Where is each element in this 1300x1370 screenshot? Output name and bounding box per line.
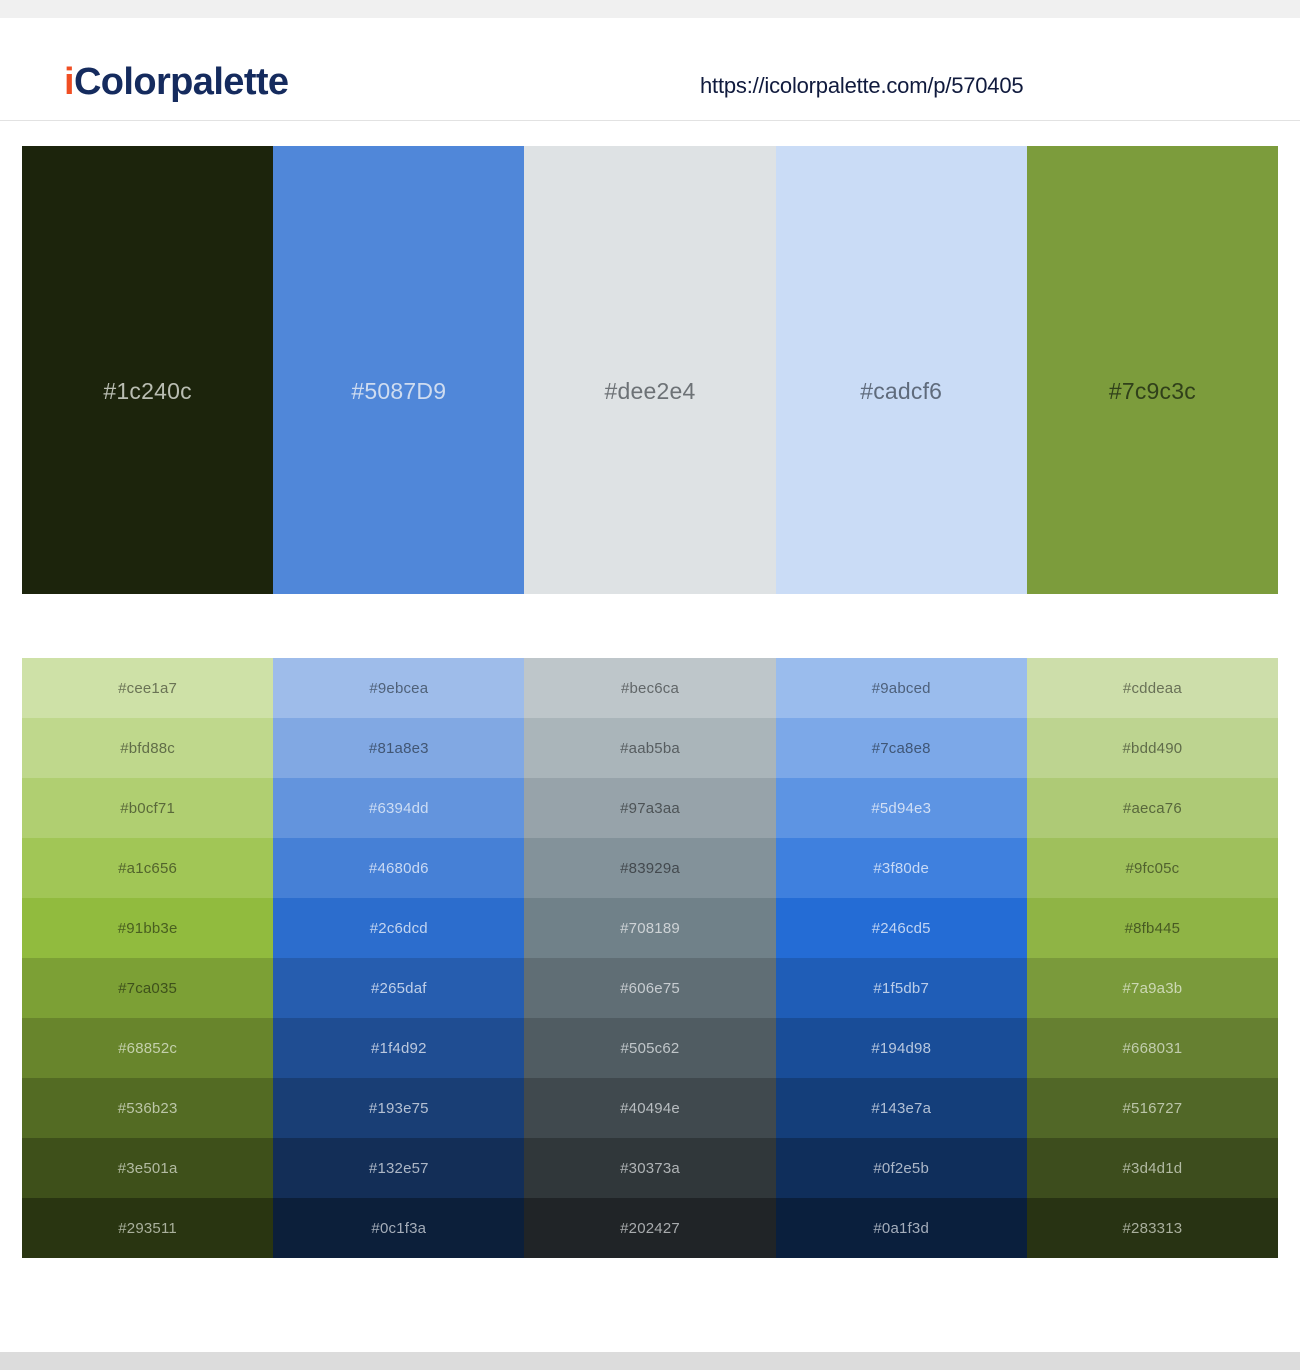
shade-cell[interactable]: #606e75 (524, 958, 775, 1018)
shade-cell[interactable]: #2c6dcd (273, 898, 524, 958)
shade-row: #293511#0c1f3a#202427#0a1f3d#283313 (22, 1198, 1278, 1258)
main-swatch-row: #1c240c#5087D9#dee2e4#cadcf6#7c9c3c (22, 146, 1278, 594)
shade-row: #cee1a7#9ebcea#bec6ca#9abced#cddeaa (22, 658, 1278, 718)
shade-cell[interactable]: #536b23 (22, 1078, 273, 1138)
shade-grid: #cee1a7#9ebcea#bec6ca#9abced#cddeaa#bfd8… (22, 658, 1278, 1258)
main-swatch[interactable]: #7c9c3c (1027, 146, 1278, 594)
top-strip (0, 0, 1300, 18)
shade-cell[interactable]: #0f2e5b (776, 1138, 1027, 1198)
shade-cell[interactable]: #7a9a3b (1027, 958, 1278, 1018)
site-header: iColorpalette https://icolorpalette.com/… (0, 18, 1300, 121)
logo-wordmark: Colorpalette (74, 61, 289, 103)
main-swatch-label: #7c9c3c (1109, 378, 1196, 405)
main-swatch-label: #dee2e4 (605, 378, 696, 405)
shade-cell[interactable]: #aeca76 (1027, 778, 1278, 838)
page-root: iColorpalette https://icolorpalette.com/… (0, 0, 1300, 1370)
logo-accent-letter: i (64, 61, 74, 103)
shade-cell[interactable]: #83929a (524, 838, 775, 898)
shade-cell[interactable]: #97a3aa (524, 778, 775, 838)
shade-cell[interactable]: #668031 (1027, 1018, 1278, 1078)
shade-cell[interactable]: #4680d6 (273, 838, 524, 898)
shade-row: #68852c#1f4d92#505c62#194d98#668031 (22, 1018, 1278, 1078)
shade-cell[interactable]: #6394dd (273, 778, 524, 838)
shade-cell[interactable]: #193e75 (273, 1078, 524, 1138)
shade-cell[interactable]: #a1c656 (22, 838, 273, 898)
shade-cell[interactable]: #3e501a (22, 1138, 273, 1198)
main-swatch-label: #cadcf6 (860, 378, 942, 405)
main-swatch[interactable]: #cadcf6 (776, 146, 1027, 594)
shade-row: #7ca035#265daf#606e75#1f5db7#7a9a3b (22, 958, 1278, 1018)
shade-cell[interactable]: #40494e (524, 1078, 775, 1138)
shade-cell[interactable]: #5d94e3 (776, 778, 1027, 838)
shade-cell[interactable]: #283313 (1027, 1198, 1278, 1258)
shade-row: #a1c656#4680d6#83929a#3f80de#9fc05c (22, 838, 1278, 898)
shade-cell[interactable]: #aab5ba (524, 718, 775, 778)
shade-cell[interactable]: #265daf (273, 958, 524, 1018)
shade-cell[interactable]: #68852c (22, 1018, 273, 1078)
shade-cell[interactable]: #3f80de (776, 838, 1027, 898)
main-swatch[interactable]: #dee2e4 (524, 146, 775, 594)
shade-cell[interactable]: #708189 (524, 898, 775, 958)
shade-cell[interactable]: #194d98 (776, 1018, 1027, 1078)
shade-row: #3e501a#132e57#30373a#0f2e5b#3d4d1d (22, 1138, 1278, 1198)
shade-cell[interactable]: #0a1f3d (776, 1198, 1027, 1258)
shade-cell[interactable]: #202427 (524, 1198, 775, 1258)
shade-cell[interactable]: #9ebcea (273, 658, 524, 718)
footer-band (0, 1352, 1300, 1370)
shade-cell[interactable]: #3d4d1d (1027, 1138, 1278, 1198)
shade-cell[interactable]: #b0cf71 (22, 778, 273, 838)
shade-row: #91bb3e#2c6dcd#708189#246cd5#8fb445 (22, 898, 1278, 958)
shade-cell[interactable]: #bec6ca (524, 658, 775, 718)
shade-cell[interactable]: #81a8e3 (273, 718, 524, 778)
site-logo[interactable]: iColorpalette (64, 61, 288, 104)
shade-cell[interactable]: #293511 (22, 1198, 273, 1258)
shade-cell[interactable]: #1f4d92 (273, 1018, 524, 1078)
main-swatch-label: #5087D9 (351, 378, 446, 405)
shade-cell[interactable]: #cee1a7 (22, 658, 273, 718)
shade-cell[interactable]: #0c1f3a (273, 1198, 524, 1258)
shade-row: #bfd88c#81a8e3#aab5ba#7ca8e8#bdd490 (22, 718, 1278, 778)
shade-cell[interactable]: #bfd88c (22, 718, 273, 778)
shade-cell[interactable]: #9fc05c (1027, 838, 1278, 898)
shade-cell[interactable]: #7ca8e8 (776, 718, 1027, 778)
shade-cell[interactable]: #143e7a (776, 1078, 1027, 1138)
shade-cell[interactable]: #7ca035 (22, 958, 273, 1018)
page-url: https://icolorpalette.com/p/570405 (700, 73, 1023, 99)
shade-cell[interactable]: #30373a (524, 1138, 775, 1198)
main-swatch-label: #1c240c (103, 378, 191, 405)
shade-row: #536b23#193e75#40494e#143e7a#516727 (22, 1078, 1278, 1138)
shade-cell[interactable]: #8fb445 (1027, 898, 1278, 958)
shade-cell[interactable]: #bdd490 (1027, 718, 1278, 778)
shade-cell[interactable]: #9abced (776, 658, 1027, 718)
shade-cell[interactable]: #1f5db7 (776, 958, 1027, 1018)
shade-cell[interactable]: #132e57 (273, 1138, 524, 1198)
main-swatch[interactable]: #5087D9 (273, 146, 524, 594)
shade-cell[interactable]: #516727 (1027, 1078, 1278, 1138)
shade-cell[interactable]: #91bb3e (22, 898, 273, 958)
main-swatch[interactable]: #1c240c (22, 146, 273, 594)
shade-cell[interactable]: #505c62 (524, 1018, 775, 1078)
shade-cell[interactable]: #246cd5 (776, 898, 1027, 958)
shade-row: #b0cf71#6394dd#97a3aa#5d94e3#aeca76 (22, 778, 1278, 838)
shade-cell[interactable]: #cddeaa (1027, 658, 1278, 718)
